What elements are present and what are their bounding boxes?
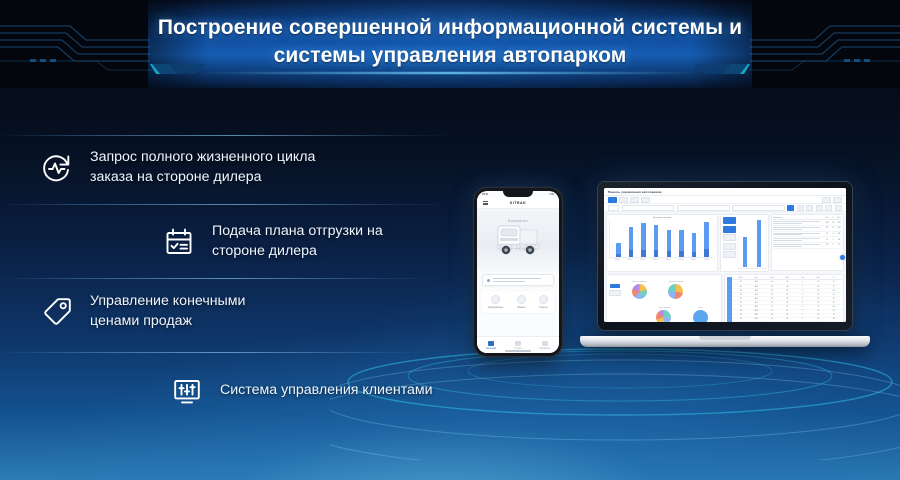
grid-table-cell: A20 [749,314,765,316]
feature-separator [0,352,430,353]
phone-watermark: SITRAK [477,243,559,253]
grid-table-cell: 30 [780,286,796,288]
grid-table-cell: 0 [795,290,811,292]
pie-graphic [656,310,671,322]
grid-table-cell: 44 [811,318,827,320]
grid-table-cell: 1 [795,314,811,316]
grid-table-cell: 04 [733,294,749,296]
phone-quick-actions: Информация Заказы Ремонт [481,291,555,313]
phone-tab-fleet[interactable]: Автопарк [486,341,496,351]
monitor-sliders-icon [168,372,206,410]
list-icon [515,341,521,347]
side-table-label [773,227,823,230]
grid-table-cell: 08 [733,310,749,312]
side-table-cell: 144 [837,222,842,224]
grid-table-cell: 92 [826,302,842,304]
banner-underline [200,72,700,74]
toolbar-button-options[interactable] [641,197,650,203]
grid-table-cell: 90 [826,310,842,312]
filter-pill-extra-a[interactable] [816,205,823,211]
grid-table-cell: 0 [795,306,811,308]
grid-table-panel: ДатаКодПланФактОтклИтог% 01A122422222920… [724,274,844,322]
laptop-base-notch [699,336,751,340]
grid-table-cell: 32 [780,314,796,316]
pie-chart-total: Итого [682,307,719,322]
filter-select-model[interactable] [677,205,730,211]
grid-table-cell: 19 [811,310,827,312]
phone-action-label: Ремонт [539,306,548,309]
pie-charts-panel: Доля по моделям Доля по регионам Статус … [606,274,722,322]
pie-button-secondary[interactable] [609,290,621,296]
dashboard-title: Панель управления автопарком [608,190,662,194]
bar-chart-title: Динамика заказов [609,217,715,219]
phone-app-brand: SITRAK [510,201,526,205]
mid-button-5[interactable] [723,251,736,258]
side-table-panel: ПоказательКол%Итог 128161449612108749835… [771,214,844,271]
grid-table-column-header: План [764,277,780,279]
phone-hero-truck: Huaqiaofu SITRAK [477,209,559,271]
notice-dot-icon [487,279,490,282]
grid-table-column-header: Факт [780,277,796,279]
phone-notice-card[interactable]: › [482,274,554,286]
grid-table-cell: 3 [795,302,811,304]
grid-table-cell: 07 [733,306,749,308]
bar-chart-tick: 2020-2 [627,259,632,261]
phone-app-header: SITRAK [477,198,559,209]
phone-action-service[interactable]: Ремонт [539,295,548,309]
grid-table-cell: 22 [780,281,796,283]
side-table-cell: 12 [831,227,836,229]
grid-table-cell: 45 [764,318,780,320]
bar-chart-plot [609,220,715,258]
grid-table-column-header: % [826,277,842,279]
bar-chart-bar [667,230,671,257]
side-table-cell: 37 [837,244,842,246]
pie-graphic [668,284,683,299]
feature-item-lifecycle[interactable]: Запрос полного жизненного цикла заказа н… [38,148,315,187]
grid-side-rail [727,277,732,323]
dashboard-row-bottom: Доля по моделям Доля по регионам Статус … [604,274,846,322]
bar-chart-panel: Динамика заказов 2020-12020-22020-32020-… [606,214,718,272]
grid-table-cell: A19 [749,310,765,312]
feature-item-label: Запрос полного жизненного цикла заказа н… [90,148,315,187]
floating-action-icon[interactable] [840,255,845,260]
grid-table-cell: 44 [780,318,796,320]
bar-chart-tick: 2020-5 [666,259,671,261]
bar-chart-bar [679,230,683,257]
side-table-cell: 9 [831,233,836,235]
calendar-check-icon [160,223,198,261]
pie-chart-status: Статус заказов [646,307,683,322]
side-table-cell: 74 [825,233,830,235]
toolbar-button-search[interactable] [822,197,831,203]
bar-chart-tick: 2020-4 [653,259,658,261]
grid-table-cell: A18 [749,306,765,308]
mid-button-1[interactable] [723,217,736,224]
grid-table-cell: A21 [749,318,765,320]
dashboard: Панель управления автопарком [604,188,846,322]
mid-chart-bar [757,220,761,267]
header-banner: Построение совершенной информационной си… [0,0,900,88]
feature-separator [0,135,452,136]
bar-chart-bar [629,227,633,257]
grid-table-cell: 95 [826,298,842,300]
bar-chart-tick: 2020-8 [704,259,709,261]
grid-table-cell: 18 [811,290,827,292]
side-table-cell: 108 [837,227,842,229]
grid-table-column-header: Откл [795,277,811,279]
feature-item-label: Управление конечными ценами продаж [90,292,245,331]
user-icon [542,341,548,347]
grid-table-cell: 2 [795,281,811,283]
grid-table-cell: 18 [780,290,796,292]
side-table-label [773,244,823,247]
grid-table-cell: 32 [811,314,827,316]
dashboard-row-top: Динамика заказов 2020-12020-22020-32020-… [604,212,846,274]
side-table-label [773,238,823,241]
hamburger-menu-icon[interactable] [483,200,488,206]
grid-table-cell: A12 [749,281,765,283]
feature-separator [0,278,440,279]
bar-chart-tick: 2020-1 [615,259,620,261]
service-icon [539,295,548,304]
grid-table-cell: 22 [811,281,827,283]
grid-table-cell: 03 [733,290,749,292]
phone-action-orders[interactable]: Заказы [517,295,526,309]
grid-table-cell: 09 [733,314,749,316]
phone-action-label: Информация [488,306,503,309]
grid-table-cell: A17 [749,302,765,304]
home-icon [488,341,494,347]
grid-table-cell: 2 [795,298,811,300]
bar-chart-tick: 2020-6 [678,259,683,261]
filter-select-period[interactable] [732,205,785,211]
price-tag-icon [38,293,76,331]
grid-table-cell: 24 [764,281,780,283]
table-row[interactable]: 10A21454414498 [733,318,841,322]
grid-table-cell: 2 [795,310,811,312]
grid-table-cell: 2 [795,294,811,296]
grid-table-column-header: Дата [733,277,749,279]
grid-table-cell: 01 [733,281,749,283]
side-table-cell: 58 [837,239,842,241]
side-table-column-header: % [831,217,836,219]
phone-action-info[interactable]: Информация [488,295,503,309]
grid-table-cell: A15 [749,294,765,296]
bar-chart-bar [654,225,658,257]
filter-pill-extra-b[interactable] [825,205,832,211]
feature-separator [0,204,452,205]
grid-table-cell: 29 [780,306,796,308]
info-circle-icon [491,295,500,304]
grid-table-cell: A16 [749,298,765,300]
feature-item-label: Система управления клиентами [220,381,433,401]
grid-table-cell: 06 [733,302,749,304]
bar-chart-bar [704,222,708,257]
mid-button-2[interactable] [723,226,736,233]
bar-chart-bar [641,223,645,257]
side-table-body: 128161449612108749835175833437 [773,220,841,248]
side-table-cell: 16 [831,222,836,224]
filter-pill-day[interactable] [787,205,794,211]
grid-table-cell: 25 [811,294,827,296]
notice-text-placeholder [493,278,545,282]
side-table-cell: 51 [825,239,830,241]
page-title: Построение совершенной информационной си… [0,14,900,70]
grid-table-cell: 1 [795,286,811,288]
grid-table-cell: 98 [826,318,842,320]
table-row[interactable]: 33437 [773,243,841,249]
feature-item-crm[interactable]: Система управления клиентами [168,372,433,410]
grid-table-cell: 1 [795,318,811,320]
page-title-line-1: Построение совершенной информационной си… [158,16,742,39]
grid-table-cell: 25 [780,294,796,296]
phone-mockup: 09:41 LTE SITRAK Huaqiaofu SITRAK [474,188,562,356]
grid-table-cell: 36 [764,302,780,304]
chevron-right-icon: › [548,278,549,282]
toolbar-button-report[interactable] [619,197,628,203]
phone-status-network: LTE [549,193,554,196]
side-table-cell: 4 [831,244,836,246]
laptop-screen: Панель управления автопарком [604,188,846,322]
filter-select-dealer[interactable] [622,205,675,211]
grid-table-cell: A13 [749,286,765,288]
grid-table-cell: 30 [811,286,827,288]
laptop-base [580,336,870,347]
phone-status-time: 09:41 [482,193,489,196]
pie-graphic [632,284,647,299]
grid-table-cell: 97 [826,286,842,288]
grid-table-cell: 29 [811,306,827,308]
filter-select-region[interactable] [608,205,619,211]
mid-chart-plot [738,217,765,269]
pie-caption: Статус заказов [658,307,670,309]
slide-root: Построение совершенной информационной си… [0,0,900,480]
toolbar-button-overview[interactable] [608,197,617,203]
feature-item-label: Подача плана отгрузки на стороне дилера [212,222,383,261]
grid-table-cell: 18 [764,290,780,292]
bar-chart-tick: 2020-7 [691,259,696,261]
dashboard-toolbar [604,196,846,204]
bar-chart-bar [616,243,620,257]
side-table-label [773,221,823,224]
phone-model-label: Huaqiaofu [477,219,559,223]
grid-table-cell: 19 [780,310,796,312]
feature-item-shipping-plan[interactable]: Подача плана отгрузки на стороне дилера [160,222,383,261]
mid-button-3[interactable] [723,234,736,241]
pie-chart-models: Доля по моделям [621,281,658,299]
phone-notch [503,191,533,197]
pie-chart-regions: Доля по регионам [658,281,695,299]
grid-table-cell: 100 [826,290,842,292]
calendar-icon [517,295,526,304]
toolbar-button-shop[interactable] [630,197,639,203]
grid-table-column-header: Код [749,277,765,279]
pie-caption: Доля по моделям [632,281,646,283]
mid-button-4[interactable] [723,243,736,250]
grid-table-cell: 33 [780,302,796,304]
phone-tab-profile[interactable]: Профиль [540,341,550,351]
bar-chart-tick: 2020-3 [640,259,645,261]
side-table-column-header: Показатель [773,217,823,219]
grid-table-cell: 10 [733,318,749,320]
phone-action-label: Заказы [517,306,525,309]
phone-tab-label: Профиль [540,347,550,350]
side-table-label [773,233,823,236]
truck-illustration [488,220,548,260]
phone-tab-services[interactable]: Услуги [514,341,521,351]
laptop-lid: Панель управления автопарком [598,182,852,330]
grid-table-cell: 02 [733,286,749,288]
grid-table-cell: 05 [733,298,749,300]
pie-caption: Доля по регионам [669,281,683,283]
grid-table-cell: 21 [764,310,780,312]
feature-list: Запрос полного жизненного цикла заказа н… [0,96,470,426]
filter-pill-month[interactable] [797,205,804,211]
side-table-column-header: Итог [837,217,842,219]
side-table-cell: 7 [831,239,836,241]
side-table-cell: 83 [837,233,842,235]
side-table-cell: 128 [825,222,830,224]
mid-chart-panel [720,214,768,272]
grid-table-cell: 33 [811,302,827,304]
grid-table-cell: 33 [764,314,780,316]
mid-chart-bar [743,237,747,267]
pie-caption: Итого [698,307,702,309]
grid-table-cell: 40 [780,298,796,300]
toolbar-button-reset[interactable] [833,197,842,203]
pie-graphic [693,310,708,322]
pie-panel-buttons [609,284,621,296]
grid-table-cell: 27 [764,294,780,296]
filter-pill-extra-c[interactable] [835,205,842,211]
grid-table-cell: A14 [749,290,765,292]
side-table-cell: 33 [825,244,830,246]
bar-chart-xaxis: 2020-12020-22020-32020-42020-52020-62020… [609,259,715,261]
mid-chart-buttons [723,217,736,269]
laptop-mockup: Панель управления автопарком [580,182,870,347]
grid-table-cell: 40 [811,298,827,300]
grid-table-cell: 97 [826,314,842,316]
side-table-column-header: Кол [825,217,830,219]
filter-pill-year[interactable] [806,205,813,211]
grid-table-cell: 31 [764,286,780,288]
grid-table-cell: 100 [826,306,842,308]
bar-chart-bar [692,233,696,257]
side-table-cell: 96 [825,227,830,229]
grid-table-body: 01A1224222229202A1331301309703A141818018… [733,281,841,322]
grid-table-column-header: Итог [811,277,827,279]
grid-table-header: ДатаКодПланФактОтклИтог% [733,277,841,281]
dashboard-title-bar: Панель управления автопарком [604,188,846,196]
phone-tab-label: Автопарк [486,347,496,350]
page-title-line-2: системы управления автопарком [0,42,900,70]
dashboard-filter-bar [604,204,846,212]
lifecycle-refresh-pulse-icon [38,149,76,187]
grid-table: ДатаКодПланФактОтклИтог% 01A122422222920… [733,277,841,323]
grid-table-cell: 93 [826,294,842,296]
pie-button-primary[interactable] [610,284,620,288]
grid-table-cell: 42 [764,298,780,300]
grid-table-cell: 92 [826,281,842,283]
feature-item-price-control[interactable]: Управление конечными ценами продаж [38,292,245,331]
grid-table-cell: 29 [764,306,780,308]
phone-screen: 09:41 LTE SITRAK Huaqiaofu SITRAK [477,191,559,353]
